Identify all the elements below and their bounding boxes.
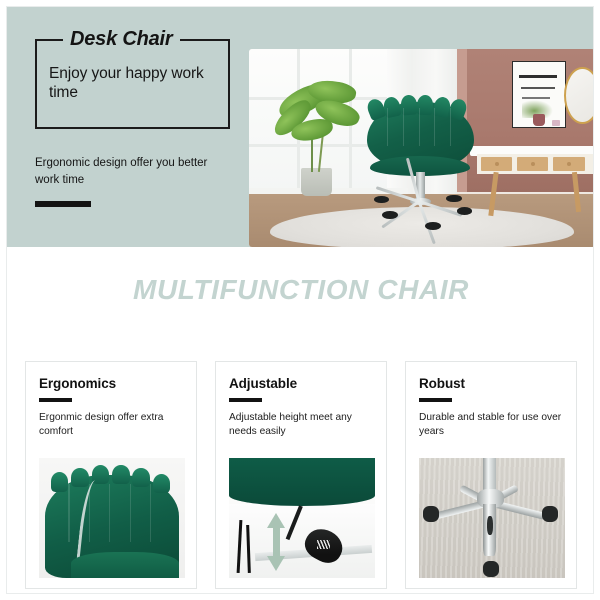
shell-flute	[109, 484, 110, 542]
round-mirror	[564, 67, 594, 124]
plant-pot	[301, 168, 332, 196]
shell-scallop	[51, 472, 69, 491]
poster-text-line	[522, 97, 550, 99]
card-rule	[419, 398, 452, 402]
arrow-up-head	[267, 513, 285, 528]
hero-copy-block: Desk Chair Enjoy your happy work time Er…	[35, 39, 230, 207]
base-caster	[483, 561, 499, 577]
hero-band: Desk Chair Enjoy your happy work time Er…	[7, 7, 594, 247]
base-caster	[542, 506, 558, 522]
seat-underside	[229, 458, 375, 506]
card-heading: Adjustable	[229, 376, 373, 391]
desk-jar	[552, 120, 561, 126]
card-heading: Ergonomics	[39, 376, 183, 391]
height-arrow-icon	[267, 513, 286, 571]
base-reflection	[487, 516, 493, 535]
shell-flute	[150, 484, 151, 542]
shell-scallop	[71, 468, 89, 487]
lever-background	[229, 504, 375, 578]
feature-card-adjustable: Adjustable Adjustable height meet any ne…	[215, 361, 387, 589]
shell-scallop	[153, 474, 171, 493]
card-body: Durable and stable for use over years	[419, 411, 563, 441]
shell-seat	[71, 552, 179, 578]
shell-scallop	[132, 468, 150, 487]
product-title: Desk Chair	[63, 28, 180, 51]
headline-text: Enjoy your happy work time	[49, 65, 218, 103]
card-photo-height-lever	[229, 458, 375, 578]
shell-flute	[130, 484, 131, 542]
feature-cards: Ergonomics Ergonmic design offer extra c…	[7, 355, 594, 594]
chair-flute	[387, 108, 388, 146]
section-title-band: MULTIFUNCTION CHAIR	[7, 254, 594, 326]
section-title: MULTIFUNCTION CHAIR	[133, 274, 469, 306]
card-body: Ergonmic design offer extra comfort	[39, 411, 183, 441]
feature-card-ergonomics: Ergonomics Ergonmic design offer extra c…	[25, 361, 197, 589]
infographic-frame: Desk Chair Enjoy your happy work time Er…	[6, 6, 594, 594]
base-caster	[423, 506, 439, 522]
shell-flute	[68, 484, 69, 542]
chair-flute	[419, 108, 420, 146]
poster-text-line	[519, 75, 557, 78]
hero-rule	[35, 201, 91, 207]
hero-photo	[249, 49, 594, 247]
card-rule	[229, 398, 262, 402]
card-photo-shell-back	[39, 458, 185, 578]
hero-note: Ergonomic design offer you better work t…	[35, 155, 215, 190]
lever-label	[317, 540, 330, 550]
headline-box: Desk Chair Enjoy your happy work time	[35, 39, 230, 129]
chair-flute	[450, 108, 451, 146]
desk-vase	[533, 114, 545, 126]
arrow-down-head	[267, 556, 285, 571]
poster-text-line	[521, 87, 556, 89]
chair-flute	[434, 108, 435, 146]
drawer-knob	[531, 162, 535, 166]
card-rule	[39, 398, 72, 402]
drawer-knob	[495, 162, 499, 166]
chair-flute	[403, 108, 404, 146]
shell-scallop	[112, 465, 130, 484]
product-infographic: Desk Chair Enjoy your happy work time Er…	[0, 0, 600, 600]
card-heading: Robust	[419, 376, 563, 391]
card-photo-chrome-base	[419, 458, 565, 578]
feature-card-robust: Robust Durable and stable for use over y…	[405, 361, 577, 589]
card-body: Adjustable height meet any needs easily	[229, 411, 373, 441]
